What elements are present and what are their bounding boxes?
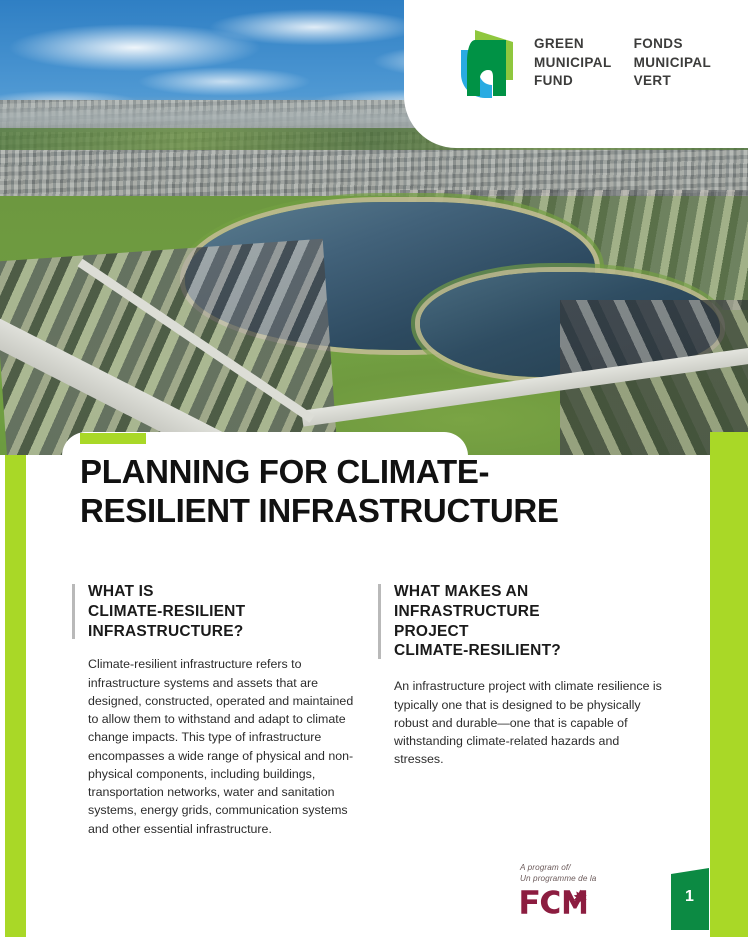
section-heading-line-1: WHAT IS bbox=[88, 583, 154, 600]
program-tagline-fr: Un programme de la bbox=[520, 874, 596, 883]
gmf-fr-line-1: FONDS bbox=[634, 36, 683, 51]
fcm-logo-icon bbox=[520, 888, 592, 916]
section-heading-line-2: INFRASTRUCTURE bbox=[394, 603, 540, 620]
gmf-fr-line-2: MUNICIPAL bbox=[634, 55, 712, 70]
gmf-logo: GREEN MUNICIPAL FUND FONDS MUNICIPAL VER… bbox=[456, 28, 711, 98]
program-tagline-en: A program of/ bbox=[520, 863, 571, 872]
page-number-badge: 1 bbox=[671, 868, 717, 930]
section-heading-line-3: PROJECT bbox=[394, 623, 469, 640]
gmf-fr-line-3: VERT bbox=[634, 73, 672, 88]
document-page: GREEN MUNICIPAL FUND FONDS MUNICIPAL VER… bbox=[0, 0, 748, 937]
gmf-en-line-1: GREEN bbox=[534, 36, 584, 51]
section-heading-line-4: CLIMATE-RESILIENT? bbox=[394, 642, 561, 659]
section-heading-line-3: INFRASTRUCTURE? bbox=[88, 623, 243, 640]
section-body: An infrastructure project with climate r… bbox=[378, 677, 668, 768]
section-heading-line-2: CLIMATE-RESILIENT bbox=[88, 603, 245, 620]
section-what-makes-a-project-climate-resilient: WHAT MAKES AN INFRASTRUCTURE PROJECT CLI… bbox=[378, 582, 668, 768]
left-green-band bbox=[5, 455, 26, 937]
gmf-en-line-2: MUNICIPAL bbox=[534, 55, 612, 70]
gmf-wordmark-french: FONDS MUNICIPAL VERT bbox=[634, 35, 712, 91]
fcm-attribution: A program of/ Un programme de la bbox=[520, 862, 596, 916]
header-panel: GREEN MUNICIPAL FUND FONDS MUNICIPAL VER… bbox=[404, 0, 748, 148]
title-accent-bar bbox=[80, 433, 146, 444]
section-what-is-climate-resilient-infrastructure: WHAT IS CLIMATE-RESILIENT INFRASTRUCTURE… bbox=[72, 582, 362, 838]
right-green-band bbox=[710, 432, 748, 937]
section-heading: WHAT MAKES AN INFRASTRUCTURE PROJECT CLI… bbox=[378, 582, 668, 661]
page-number: 1 bbox=[685, 888, 694, 906]
gmf-logo-icon bbox=[456, 28, 520, 98]
gmf-logo-wordmark: GREEN MUNICIPAL FUND FONDS MUNICIPAL VER… bbox=[534, 35, 711, 91]
section-body: Climate-resilient infrastructure refers … bbox=[72, 655, 362, 837]
section-heading-line-1: WHAT MAKES AN bbox=[394, 583, 528, 600]
gmf-wordmark-english: GREEN MUNICIPAL FUND bbox=[534, 35, 612, 91]
section-heading: WHAT IS CLIMATE-RESILIENT INFRASTRUCTURE… bbox=[72, 582, 362, 641]
program-tagline: A program of/ Un programme de la bbox=[520, 862, 596, 884]
gmf-en-line-3: FUND bbox=[534, 73, 573, 88]
page-title: PLANNING FOR CLIMATE-RESILIENT INFRASTRU… bbox=[80, 453, 560, 530]
